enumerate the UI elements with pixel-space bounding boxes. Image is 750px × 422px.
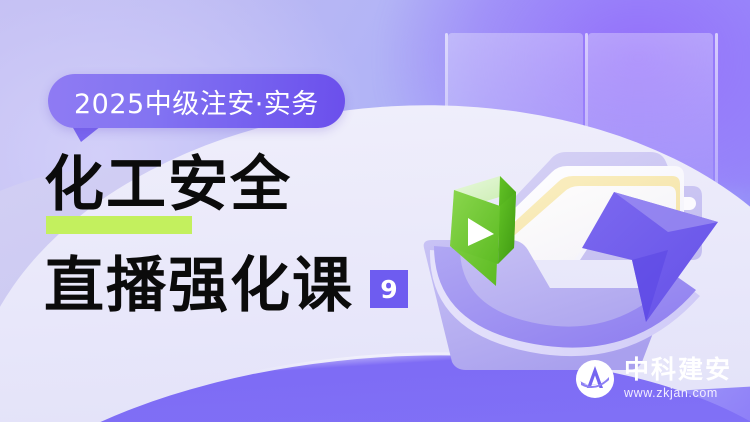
brand-name: 中科建安 bbox=[624, 357, 732, 383]
course-title-line-1: 化工安全 bbox=[44, 152, 464, 218]
course-title-row-2: 直播强化课 9 bbox=[44, 253, 408, 319]
course-title-line-2: 直播强化课 bbox=[44, 253, 354, 319]
course-title-block: 化工安全 bbox=[44, 152, 464, 218]
mountain-swoosh-circle-icon bbox=[575, 359, 615, 399]
brand-logo-text: 中科建安 www.zkjan.com bbox=[624, 357, 732, 400]
brand-url: www.zkjan.com bbox=[624, 386, 718, 400]
badge-pill-tail bbox=[72, 126, 101, 142]
course-category-badge: 2025中级注安·实务 bbox=[48, 74, 345, 128]
course-promo-banner: 2025中级注安·实务 化工安全 直播强化课 9 中科建安 www.zkjan.… bbox=[0, 0, 750, 422]
course-category-label: 2025中级注安·实务 bbox=[74, 82, 319, 121]
brand-logo[interactable]: 中科建安 www.zkjan.com bbox=[575, 357, 732, 400]
course-illustration bbox=[400, 100, 750, 370]
episode-number-badge: 9 bbox=[370, 270, 408, 308]
